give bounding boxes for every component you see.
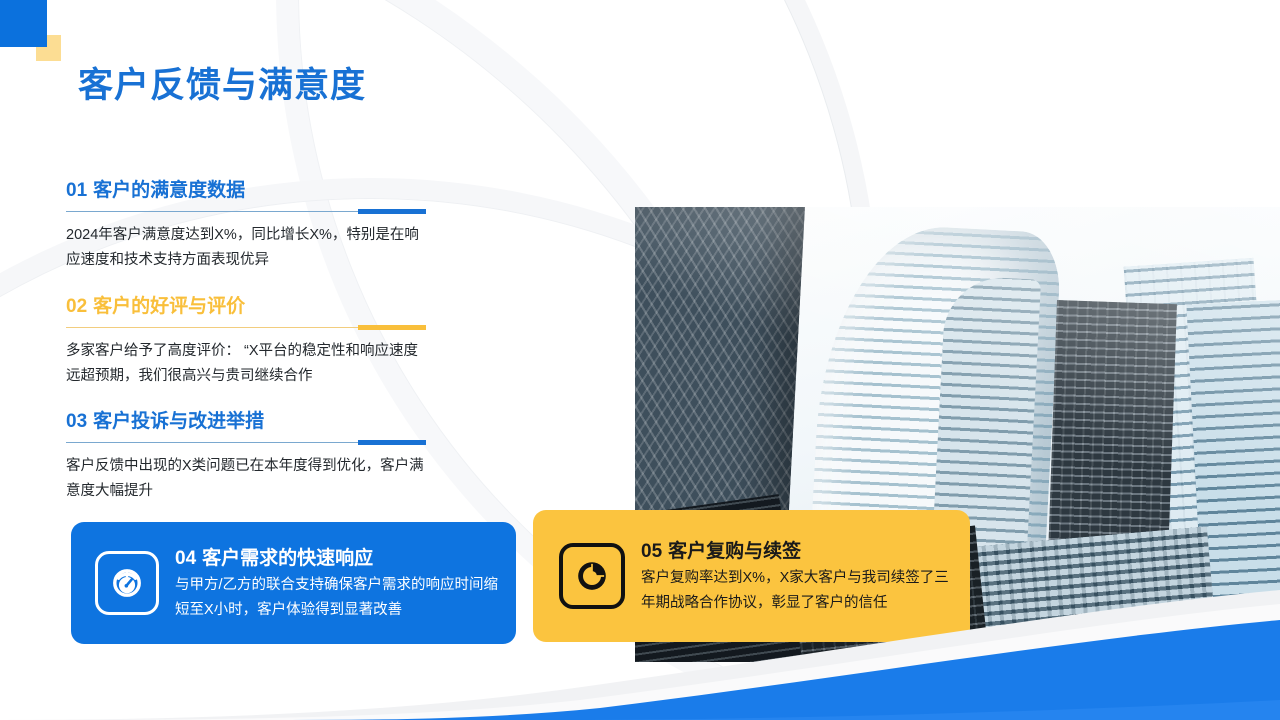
feature-card-05-text: 05客户复购与续签 客户复购率达到X%，X家大客户与我司续签了三年期战略合作协议… bbox=[641, 536, 954, 616]
feature-card-05[interactable]: 05客户复购与续签 客户复购率达到X%，X家大客户与我司续签了三年期战略合作协议… bbox=[533, 510, 970, 642]
section-03: 03客户投诉与改进举措 客户反馈中出现的X类问题已在本年度得到优化，客户满意度大… bbox=[66, 406, 426, 504]
donut-chart-icon bbox=[559, 543, 625, 609]
section-02-heading: 02客户的好评与评价 bbox=[66, 291, 426, 318]
section-02-divider-accent bbox=[358, 325, 426, 330]
section-01-body: 2024年客户满意度达到X%，同比增长X%，特别是在响应速度和技术支持方面表现优… bbox=[66, 223, 426, 273]
section-03-number: 03 bbox=[66, 411, 87, 432]
section-01: 01客户的满意度数据 2024年客户满意度达到X%，同比增长X%，特别是在响应速… bbox=[66, 175, 426, 273]
feature-card-05-heading: 客户复购与续签 bbox=[668, 541, 801, 562]
section-03-body: 客户反馈中出现的X类问题已在本年度得到优化，客户满意度大幅提升 bbox=[66, 454, 426, 504]
feature-card-05-title: 05客户复购与续签 bbox=[641, 536, 954, 563]
section-03-divider-accent bbox=[358, 440, 426, 445]
section-01-heading: 01客户的满意度数据 bbox=[66, 175, 426, 202]
feature-card-05-desc: 客户复购率达到X%，X家大客户与我司续签了三年期战略合作协议，彰显了客户的信任 bbox=[641, 566, 954, 616]
section-01-divider-accent bbox=[358, 209, 426, 214]
feature-card-04-text: 04客户需求的快速响应 与甲方/乙方的联合支持确保客户需求的响应时间缩短至X小时… bbox=[175, 543, 500, 623]
section-01-title: 客户的满意度数据 bbox=[93, 180, 245, 201]
section-03-title: 客户投诉与改进举措 bbox=[93, 411, 264, 432]
section-02-body: 多家客户给予了高度评价： “X平台的稳定性和响应速度远超预期，我们很高兴与贵司继… bbox=[66, 339, 426, 389]
section-03-divider bbox=[66, 442, 426, 443]
section-02-number: 02 bbox=[66, 296, 87, 317]
section-03-heading: 03客户投诉与改进举措 bbox=[66, 406, 426, 433]
feature-card-04-heading: 客户需求的快速响应 bbox=[202, 548, 373, 569]
page-title: 客户反馈与满意度 bbox=[78, 57, 366, 108]
section-02-title: 客户的好评与评价 bbox=[93, 296, 245, 317]
feature-card-05-number: 05 bbox=[641, 541, 662, 562]
speedometer-icon bbox=[95, 551, 159, 615]
section-01-number: 01 bbox=[66, 180, 87, 201]
section-02-divider bbox=[66, 327, 426, 328]
feature-card-04[interactable]: 04客户需求的快速响应 与甲方/乙方的联合支持确保客户需求的响应时间缩短至X小时… bbox=[71, 522, 516, 644]
slide-canvas: 客户反馈与满意度 01客户的满意度数据 2024年客户满意度达到X%，同比增长X… bbox=[0, 0, 1280, 720]
corner-square-blue bbox=[0, 0, 47, 47]
section-02: 02客户的好评与评价 多家客户给予了高度评价： “X平台的稳定性和响应速度远超预… bbox=[66, 291, 426, 389]
feature-card-04-number: 04 bbox=[175, 548, 196, 569]
feature-card-04-desc: 与甲方/乙方的联合支持确保客户需求的响应时间缩短至X小时，客户体验得到显著改善 bbox=[175, 573, 500, 623]
section-01-divider bbox=[66, 211, 426, 212]
feature-card-04-title: 04客户需求的快速响应 bbox=[175, 543, 500, 570]
